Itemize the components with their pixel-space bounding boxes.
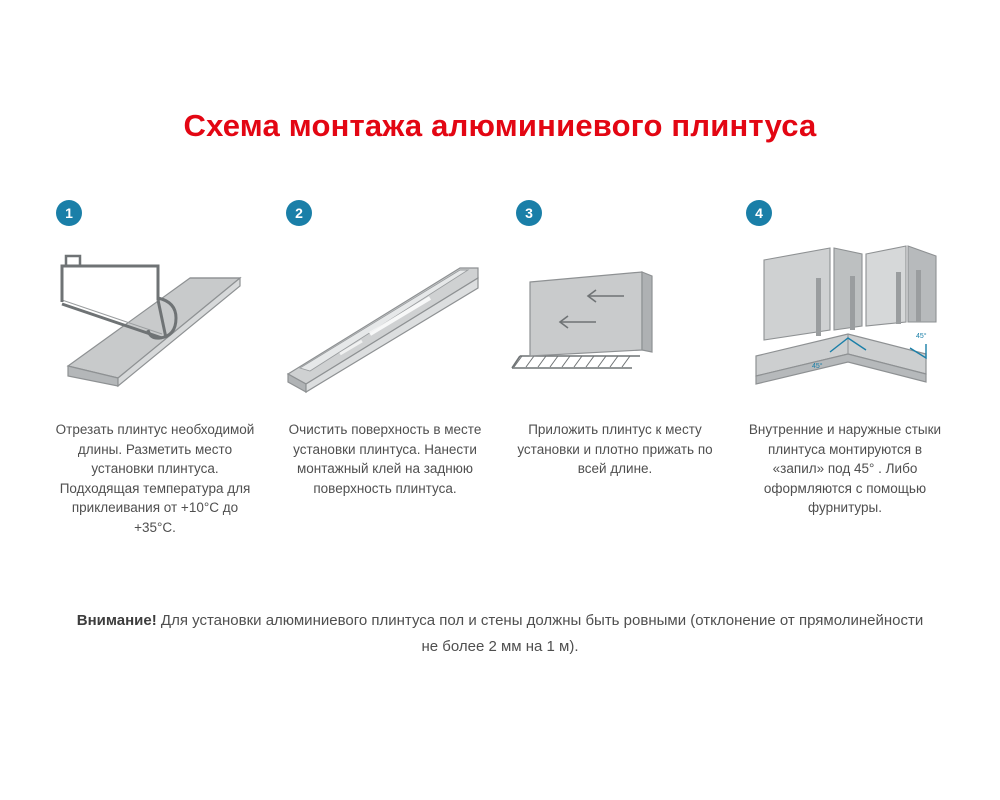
step-1-badge: 1 [56, 200, 82, 226]
step-1-caption: Отрезать плинтус необходимой длины. Разм… [40, 420, 270, 537]
step-2-caption: Очистить поверхность в месте установки п… [270, 420, 500, 498]
saw-cutting-profile-icon [62, 256, 240, 386]
step-3-badge: 3 [516, 200, 542, 226]
warning-note: Внимание! Для установки алюминиевого пли… [70, 608, 930, 660]
warning-text: Для установки алюминиевого плинтуса пол … [157, 612, 923, 655]
profile-cleaning-icon [288, 268, 478, 392]
step-3: 3 [500, 200, 730, 537]
step-2-badge: 2 [286, 200, 312, 226]
step-4-caption: Внутренние и наружные стыки плинтуса мон… [730, 420, 960, 518]
step-1-illustration [40, 226, 270, 416]
step-1: 1 [40, 200, 270, 537]
step-4-illustration: 45° 45° [730, 226, 960, 416]
step-3-caption: Приложить плинтус к месту установки и пл… [500, 420, 730, 479]
warning-lead: Внимание! [77, 612, 157, 629]
page-title: Схема монтажа алюминиевого плинтуса [0, 108, 1000, 144]
angle-label-inner: 45° [812, 362, 823, 370]
steps-row: 1 [40, 200, 960, 537]
infographic-page: Схема монтажа алюминиевого плинтуса 1 [0, 0, 1000, 800]
step-4-badge: 4 [746, 200, 772, 226]
angle-label-outer: 45° [916, 332, 927, 340]
press-to-wall-icon [512, 272, 652, 368]
step-2-illustration [270, 226, 500, 416]
step-3-illustration [500, 226, 730, 416]
corner-joint-45-icon: 45° 45° [756, 246, 936, 384]
step-4: 4 [730, 200, 960, 537]
step-2: 2 Очистить поверхность в месте установки… [270, 200, 500, 537]
